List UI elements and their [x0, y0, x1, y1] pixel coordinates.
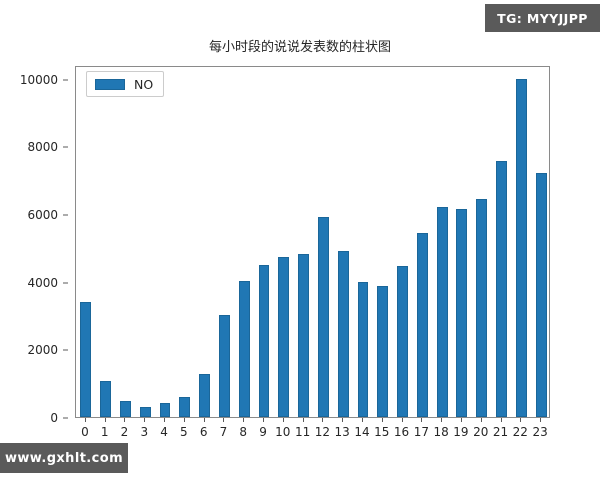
x-tick-label: 2 [121, 425, 129, 439]
x-tick-mark [461, 418, 462, 422]
x-tick-mark [481, 418, 482, 422]
x-tick-label: 17 [414, 425, 429, 439]
x-tick-label: 20 [473, 425, 488, 439]
y-tick-label: 6000 [27, 208, 58, 222]
bar [516, 79, 527, 417]
x-tick-label: 13 [335, 425, 350, 439]
x-tick-label: 10 [275, 425, 290, 439]
bar [417, 233, 428, 417]
x-tick-label: 3 [140, 425, 148, 439]
x-tick-label: 9 [259, 425, 267, 439]
x-tick-mark [144, 418, 145, 422]
bar [496, 161, 507, 417]
bar [179, 397, 190, 417]
x-tick-label: 11 [295, 425, 310, 439]
bar [80, 302, 91, 417]
watermark-website-badge: www.gxhlt.com [0, 443, 128, 473]
x-tick-label: 8 [239, 425, 247, 439]
x-tick-mark [223, 418, 224, 422]
bar [259, 265, 270, 417]
x-tick-mark [342, 418, 343, 422]
legend-label: NO [134, 77, 153, 92]
y-tick-mark [63, 282, 68, 283]
x-tick-label: 19 [453, 425, 468, 439]
bar [199, 374, 210, 417]
screenshot-canvas: 每小时段的说说发表数的柱状图 0200040006000800010000 01… [0, 0, 600, 480]
bar [536, 173, 547, 417]
bar [318, 217, 329, 417]
x-tick-mark [322, 418, 323, 422]
y-tick-mark [63, 418, 68, 419]
chart-legend[interactable]: NO [86, 71, 164, 97]
legend-color-swatch [95, 79, 125, 90]
bar [338, 251, 349, 417]
x-tick-mark [283, 418, 284, 422]
x-tick-label: 4 [160, 425, 168, 439]
bar [456, 209, 467, 417]
x-tick-label: 7 [220, 425, 228, 439]
x-tick-mark [243, 418, 244, 422]
x-tick-label: 18 [434, 425, 449, 439]
bar [476, 199, 487, 417]
chart-title: 每小时段的说说发表数的柱状图 [0, 36, 600, 55]
bar [219, 315, 230, 417]
x-tick-mark [441, 418, 442, 422]
bar-chart-figure: 每小时段的说说发表数的柱状图 0200040006000800010000 01… [0, 0, 600, 480]
x-tick-label: 6 [200, 425, 208, 439]
bar [298, 254, 309, 417]
y-tick-mark [63, 79, 68, 80]
y-tick-mark [63, 350, 68, 351]
x-tick-mark [85, 418, 86, 422]
plot-area [75, 66, 550, 418]
x-tick-label: 0 [81, 425, 89, 439]
x-tick-label: 12 [315, 425, 330, 439]
bar [437, 207, 448, 417]
bar [100, 381, 111, 417]
x-tick-mark [421, 418, 422, 422]
y-tick-label: 2000 [27, 343, 58, 357]
x-tick-mark [164, 418, 165, 422]
bar [358, 282, 369, 417]
x-tick-mark [382, 418, 383, 422]
y-tick-label: 10000 [20, 73, 58, 87]
bar [140, 407, 151, 417]
bar [239, 281, 250, 417]
x-tick-label: 23 [532, 425, 547, 439]
x-tick-mark [204, 418, 205, 422]
x-tick-label: 1 [101, 425, 109, 439]
bar [160, 403, 171, 417]
y-axis: 0200040006000800010000 [0, 66, 68, 418]
y-tick-label: 8000 [27, 140, 58, 154]
y-tick-mark [63, 147, 68, 148]
x-tick-mark [105, 418, 106, 422]
bar [120, 401, 131, 417]
x-tick-label: 21 [493, 425, 508, 439]
bar [377, 286, 388, 417]
x-tick-mark [124, 418, 125, 422]
x-tick-mark [184, 418, 185, 422]
x-tick-mark [303, 418, 304, 422]
x-tick-mark [362, 418, 363, 422]
x-tick-label: 22 [513, 425, 528, 439]
y-tick-label: 4000 [27, 276, 58, 290]
y-tick-label: 0 [50, 411, 58, 425]
x-tick-mark [402, 418, 403, 422]
x-tick-label: 5 [180, 425, 188, 439]
x-axis: 01234567891011121314151617181920212223 [75, 418, 550, 446]
x-tick-mark [540, 418, 541, 422]
x-tick-mark [263, 418, 264, 422]
x-tick-label: 14 [354, 425, 369, 439]
x-tick-label: 15 [374, 425, 389, 439]
y-tick-mark [63, 214, 68, 215]
x-tick-mark [501, 418, 502, 422]
bars-layer [76, 67, 549, 417]
x-tick-label: 16 [394, 425, 409, 439]
x-tick-mark [520, 418, 521, 422]
watermark-telegram-badge: TG: MYYJJPP [485, 4, 600, 32]
bar [397, 266, 408, 417]
bar [278, 257, 289, 417]
